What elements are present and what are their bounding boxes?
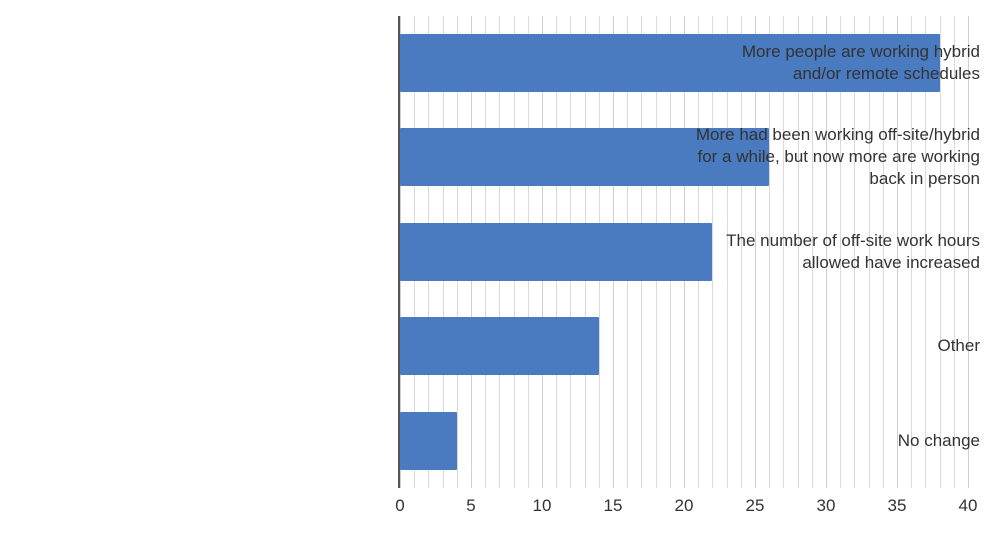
x-tick-label: 5 [441, 494, 501, 518]
bar[interactable] [400, 412, 457, 470]
y-axis-line [398, 16, 400, 488]
x-tick-label: 40 [938, 494, 994, 518]
category-label: The number of off-site work hours allowe… [594, 230, 980, 274]
category-label: No change [594, 430, 980, 452]
x-axis-tick-labels: 0510152025303540 [0, 494, 994, 524]
bar[interactable] [400, 317, 599, 375]
x-tick-label: 10 [512, 494, 572, 518]
x-tick-label: 20 [654, 494, 714, 518]
category-label: More had been working off-site/hybrid fo… [594, 124, 980, 190]
bar-chart: More people are working hybrid and/or re… [0, 0, 994, 542]
category-label: More people are working hybrid and/or re… [594, 41, 980, 85]
category-label: Other [594, 335, 980, 357]
x-tick-label: 0 [370, 494, 430, 518]
x-tick-label: 25 [725, 494, 785, 518]
x-tick-label: 30 [796, 494, 856, 518]
x-tick-label: 15 [583, 494, 643, 518]
x-tick-label: 35 [867, 494, 927, 518]
